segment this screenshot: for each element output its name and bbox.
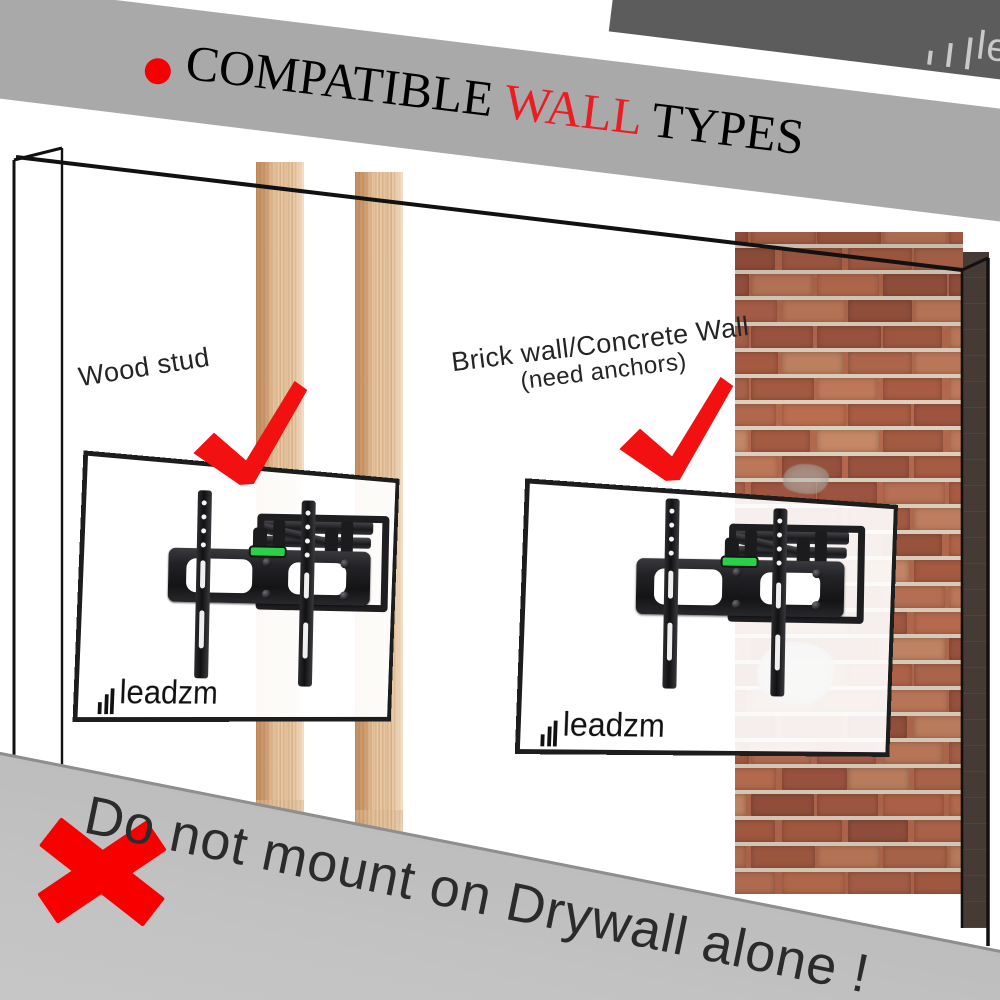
rail-hole [202, 500, 207, 505]
rail-slot [199, 610, 205, 648]
rail-hole [305, 524, 310, 529]
plate-cutout-right [760, 572, 821, 605]
rail-hole [669, 551, 674, 556]
brand-bars-icon [98, 675, 118, 714]
rail-hole [201, 528, 206, 533]
plate-cutout-right [288, 562, 347, 595]
rail-hole [669, 523, 674, 528]
brand-bars-icon [540, 707, 560, 746]
infographic-canvas: leadzm [0, 0, 1000, 1000]
rail-hole [669, 537, 674, 542]
plate-bolt-4 [812, 601, 821, 610]
tv-mount-bracket-right [634, 498, 867, 694]
brand-bars-icon [927, 20, 976, 70]
rail-slot [776, 582, 781, 608]
rail-slot [303, 622, 309, 658]
rail-hole [305, 552, 310, 557]
rail-hole [777, 518, 782, 523]
rail-hole [201, 514, 206, 519]
rail-hole [669, 509, 674, 514]
rail-hole [306, 510, 311, 515]
rail-slot [304, 572, 310, 598]
check-mark-left-icon [182, 368, 320, 495]
bracket-rail-left [662, 498, 679, 688]
bubble-level [251, 547, 285, 556]
panel-brand-right: leadzm [540, 705, 665, 747]
rail-hole [777, 546, 782, 551]
plate-bolt-2 [732, 600, 741, 609]
rail-slot [667, 623, 673, 661]
bubble-level [723, 557, 757, 566]
bracket-rail-right [770, 508, 787, 696]
rail-slot [668, 571, 673, 599]
bracket-rail-right [298, 500, 316, 686]
bullet-dot-icon [143, 57, 172, 86]
check-mark-right-icon [608, 364, 746, 491]
rail-hole [777, 532, 782, 537]
rail-hole [777, 560, 782, 565]
plate-bolt-3 [812, 569, 821, 578]
rail-slot [775, 634, 781, 670]
rail-slot [200, 560, 206, 588]
rail-hole [201, 542, 206, 547]
rail-hole [305, 538, 310, 543]
tv-mount-bracket-left [166, 490, 396, 685]
bracket-rail-left [194, 490, 212, 678]
